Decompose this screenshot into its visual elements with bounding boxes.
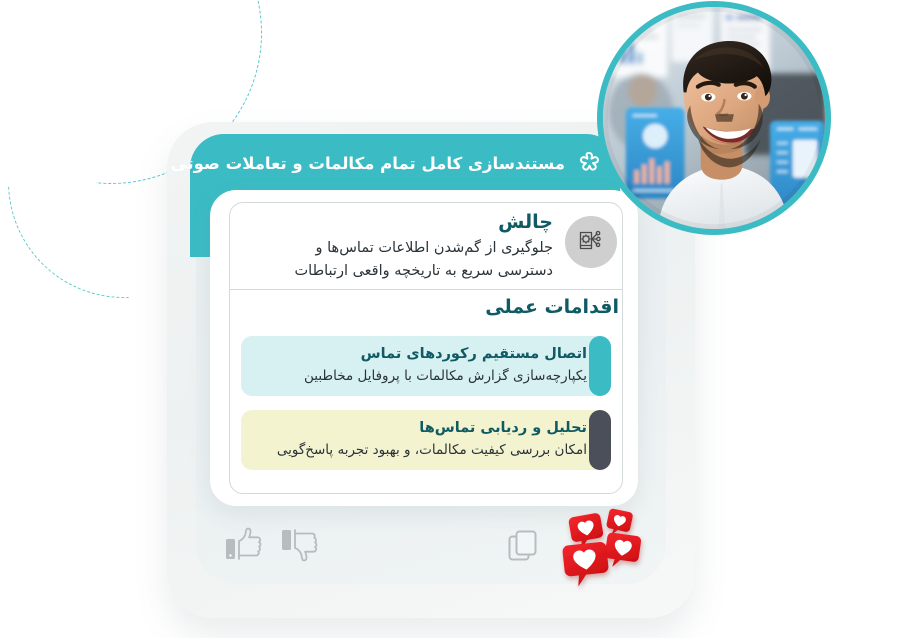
avatar: [597, 1, 831, 235]
document-gear-network-icon: [574, 225, 608, 259]
challenge-body-line-2: دسترسی سریع به تاریخچه واقعی ارتباطات: [237, 260, 553, 283]
action-item-1[interactable]: تحلیل و ردیابی تماس‌ها امکان بررسی کیفیت…: [241, 410, 611, 470]
feedback-toolbar: [212, 518, 632, 578]
header-title: مستندسازی کامل تمام مکالمات و تعاملات صو…: [171, 154, 565, 173]
challenge-icon-circle: [565, 216, 617, 268]
challenge-section: چالش جلوگیری از گم‌شدن اطلاعات تماس‌ها و…: [237, 206, 617, 286]
action-item-0[interactable]: اتصال مستقیم رکوردهای تماس یکپارچه‌سازی …: [241, 336, 611, 396]
challenge-body-line-1: جلوگیری از گم‌شدن اطلاعات تماس‌ها و: [237, 237, 553, 260]
thumbs-down-icon[interactable]: [280, 522, 328, 568]
heart-reaction-badges: [560, 506, 652, 592]
section-divider: [230, 289, 622, 290]
header-title-row: مستندسازی کامل تمام مکالمات و تعاملات صو…: [190, 143, 604, 183]
flower-asterisk-icon: [574, 148, 604, 178]
action-title-1: تحلیل و ردیابی تماس‌ها: [261, 418, 595, 440]
thumbs-up-icon[interactable]: [224, 522, 272, 568]
copy-icon[interactable]: [504, 526, 544, 566]
challenge-text: چالش جلوگیری از گم‌شدن اطلاعات تماس‌ها و…: [237, 210, 553, 284]
challenge-title: چالش: [237, 210, 553, 236]
action-desc-1: امکان بررسی کیفیت مکالمات، و بهبود تجربه…: [261, 440, 595, 461]
actions-heading: اقدامات عملی: [289, 296, 619, 318]
action-title-0: اتصال مستقیم رکوردهای تماس: [261, 344, 595, 366]
action-accent-bar-1: [589, 410, 611, 470]
action-accent-bar-0: [589, 336, 611, 396]
avatar-photo: [603, 7, 825, 229]
action-desc-0: یکپارچه‌سازی گزارش مکالمات با پروفایل مخ…: [261, 366, 595, 387]
